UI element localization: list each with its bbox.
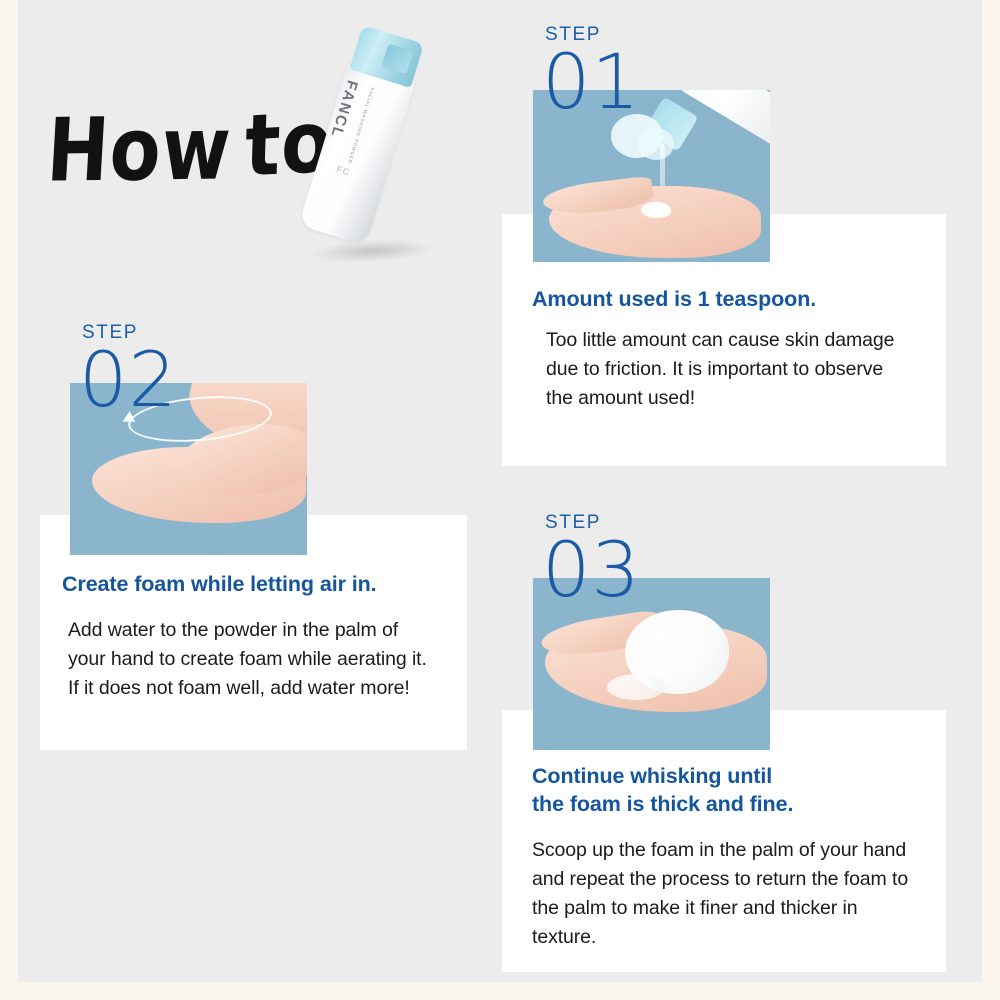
how-to-infographic: Howto FANCL FACIAL WASHING POWDER FC STE… — [0, 0, 1000, 1000]
bottle-shadow — [312, 237, 433, 265]
photo-droplet-small — [638, 128, 674, 160]
step-03-headline-line-2: the foam is thick and fine. — [532, 792, 793, 816]
step-01-body: Too little amount can cause skin damage … — [546, 326, 898, 413]
step-02-headline: Create foam while letting air in. — [62, 570, 462, 598]
step-03-number: 03 — [542, 532, 641, 608]
bottle-graphic: FANCL FACIAL WASHING POWDER FC — [299, 24, 427, 243]
bottle-cap-notch — [382, 44, 414, 75]
step-03-headline: Continue whisking until the foam is thic… — [532, 762, 942, 818]
photo-foam-residue — [607, 674, 665, 700]
step-03-headline-line-1: Continue whisking until — [532, 764, 772, 788]
product-bottle-image: FANCL FACIAL WASHING POWDER FC — [300, 22, 450, 272]
step-02-number: 02 — [79, 342, 178, 418]
step-01-headline: Amount used is 1 teaspoon. — [532, 285, 932, 313]
page-title-word-how: How — [43, 84, 235, 216]
page-title: Howto — [45, 87, 339, 208]
step-02-body: Add water to the powder in the palm of y… — [68, 616, 440, 703]
step-03-body: Scoop up the foam in the palm of your ha… — [532, 836, 914, 952]
step-01-number: 01 — [542, 44, 641, 120]
photo-powder-on-palm — [641, 202, 671, 218]
